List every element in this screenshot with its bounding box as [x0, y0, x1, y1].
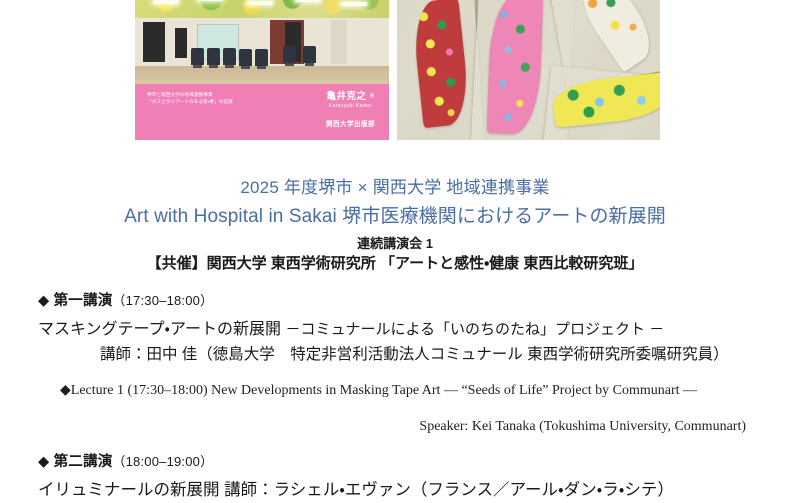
cover-subtitle: 堺市と関西大学の地域連携事業 「ホスピタルアートのある街・堺」の記録 [147, 91, 297, 105]
headline-line-2-japanese: 堺市医療機関におけるアートの新展開 [342, 206, 666, 227]
ceiling-light [197, 0, 223, 1]
waiting-chair [239, 49, 252, 66]
session-2-label: 第二講演 [54, 454, 113, 470]
session-1-title-jp: マスキングテープ・アートの新展開 －コミュナールによる「いのちのたね」プロジェク… [38, 318, 764, 341]
ceiling-light [247, 1, 273, 5]
corridor-doorway [175, 28, 187, 58]
cover-photo [135, 0, 389, 84]
headline-line-1: 2025 年度堺市 × 関西大学 地域連携事業 [0, 176, 790, 201]
ceiling-light [341, 2, 367, 6]
cover-author-block: 亀井克之著 Katsuyuki Kamei 関西大学出版部 [326, 88, 375, 128]
headline-block: 2025 年度堺市 × 関西大学 地域連携事業 Art with Hospita… [0, 176, 790, 273]
diamond-bullet-icon: ◆ [38, 454, 49, 470]
waiting-chair [303, 46, 316, 63]
session-1-speaker-en: Speaker: Kei Tanaka (Tokushima Universit… [38, 417, 764, 437]
book-cover-image: 堺市と関西大学の地域連携事業 「ホスピタルアートのある街・堺」の記録 亀井克之著… [135, 0, 389, 140]
radiator-panel [331, 20, 347, 64]
session-1-title-main: マスキングテープ・アートの新展開 [38, 321, 281, 338]
session-1-title-dash: －コミュナールによる「いのちのたね」プロジェクト － [286, 321, 665, 338]
cover-author-name: 亀井克之著 [326, 88, 375, 102]
ceiling-light [295, 0, 321, 2]
session-2-heading: ◆ 第二講演（18:00–19:00） [38, 452, 764, 472]
headline-line-2-english: Art with Hospital in Sakai [124, 206, 337, 227]
session-2-time: （18:00–19:00） [112, 454, 213, 469]
waiting-chair [255, 49, 268, 66]
cover-subtitle-line1: 堺市と関西大学の地域連携事業 [147, 91, 297, 98]
media-band: 堺市と関西大学の地域連携事業 「ホスピタルアートのある街・堺」の記録 亀井克之著… [0, 0, 790, 142]
cover-publisher: 関西大学出版部 [326, 118, 375, 128]
session-1-label: 第一講演 [54, 293, 113, 309]
masking-tape-art-image [397, 0, 660, 140]
session-1-heading: ◆ 第一講演（17:30–18:00） [38, 291, 764, 311]
waiting-chair [283, 46, 296, 63]
cover-author-roman: Katsuyuki Kamei [326, 103, 375, 109]
headline-line-2: Art with Hospital in Sakai 堺市医療機関におけるアート… [0, 203, 790, 232]
corridor-floor [135, 66, 389, 84]
session-1-title-en: ◆Lecture 1 (17:30–18:00) New Development… [38, 381, 764, 401]
waiting-chair [191, 48, 204, 65]
corridor-doorway [143, 22, 165, 62]
diamond-bullet-icon: ◆ [38, 293, 49, 309]
session-1-time: （17:30–18:00） [112, 293, 213, 308]
session-2-title-jp: イリュミナールの新展開 講師：ラシェル・エヴァン（フランス／アール・ダン・ラ・シ… [38, 479, 764, 503]
cover-subtitle-line2: 「ホスピタルアートのある街・堺」の記録 [147, 98, 297, 105]
ceiling-light [153, 0, 179, 4]
program-block: ◆ 第一講演（17:30–18:00） マスキングテープ・アートの新展開 －コミ… [0, 291, 790, 502]
waiting-chair [207, 48, 220, 65]
cover-author-suffix: 著 [369, 93, 374, 98]
session-1-speaker-jp: 講師：田中 佳（徳島大学 特定非営利活動法人コミュナール 東西学術研究所委嘱研究… [38, 344, 764, 366]
cover-author-text: 亀井克之 [326, 91, 366, 102]
cohost-label: 【共催】関西大学 東西学術研究所 「アートと感性・健康 東西比較研究班」 [0, 254, 790, 274]
waiting-chair [223, 48, 236, 65]
series-label: 連続講演会 1 [0, 235, 790, 253]
